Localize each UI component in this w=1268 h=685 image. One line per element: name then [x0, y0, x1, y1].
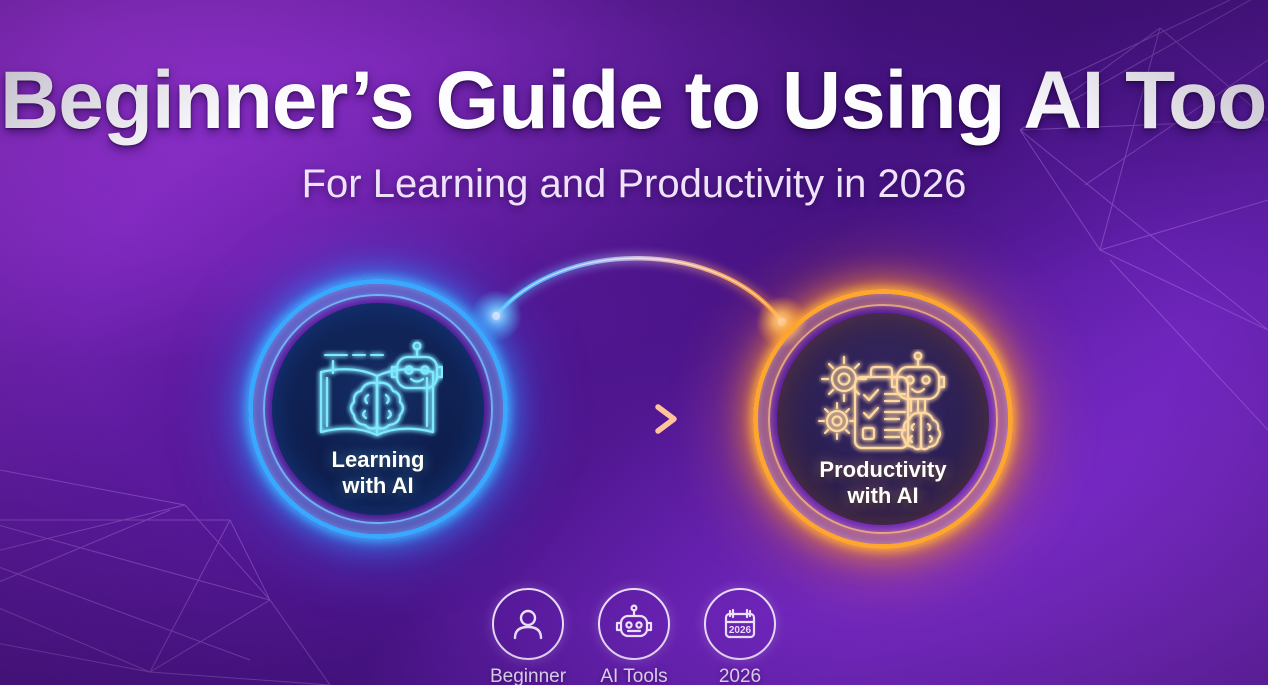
badge-ai-tools[interactable]: AI Tools — [597, 588, 672, 685]
book-brain-robot-icon — [313, 339, 443, 444]
poster-canvas: Beginner’s Guide to Using AI Tools For L… — [0, 0, 1268, 685]
node-productivity-with-ai[interactable]: Productivity with AI — [753, 289, 1013, 549]
page-title: Beginner’s Guide to Using AI Tools — [0, 60, 1268, 142]
badge-circle — [598, 588, 670, 660]
badge-circle — [492, 588, 564, 660]
right-arrow-icon — [590, 398, 685, 440]
node-label-learning: Learning with AI — [248, 447, 508, 499]
node-learning-with-ai[interactable]: Learning with AI — [248, 279, 508, 539]
gears-checklist-robot-brain-icon — [815, 349, 951, 455]
badge-label: 2026 — [719, 666, 761, 685]
person-icon — [508, 604, 548, 644]
badge-row: Beginner AI Tools — [0, 588, 1268, 685]
badge-circle: 2026 — [704, 588, 776, 660]
robot-icon — [613, 603, 655, 645]
badge-label: AI Tools — [600, 666, 667, 685]
badge-2026[interactable]: 2026 2026 — [703, 588, 778, 685]
calendar-icon: 2026 — [719, 603, 761, 645]
page-subtitle: For Learning and Productivity in 2026 — [0, 162, 1268, 207]
badge-label: Beginner — [490, 666, 566, 685]
node-label-productivity: Productivity with AI — [753, 457, 1013, 509]
badge-beginner[interactable]: Beginner — [491, 588, 566, 685]
calendar-year-text: 2026 — [729, 625, 752, 636]
